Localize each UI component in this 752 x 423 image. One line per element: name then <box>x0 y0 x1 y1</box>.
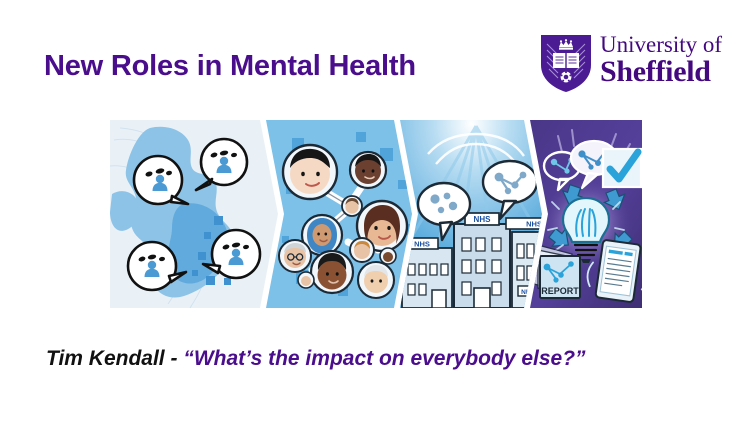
slide-header: New Roles in Mental Health <box>0 0 752 112</box>
network-face <box>350 152 386 188</box>
slide-caption: Tim Kendall - “What’s the impact on ever… <box>46 347 586 371</box>
banner-panel-people-network <box>260 120 420 308</box>
svg-text:NHS: NHS <box>414 240 430 249</box>
university-wordmark: University of Sheffield <box>600 33 722 87</box>
logo-line-sheffield: Sheffield <box>600 57 722 87</box>
network-face <box>279 240 311 272</box>
network-face <box>342 196 362 216</box>
network-face <box>311 251 353 293</box>
caption-speaker: Tim Kendall - <box>46 347 183 370</box>
svg-text:NHS: NHS <box>474 215 492 224</box>
university-logo: University of Sheffield <box>536 30 732 94</box>
svg-text:NHS: NHS <box>526 220 542 229</box>
network-face <box>350 238 374 262</box>
network-face <box>283 145 337 199</box>
university-crest-icon <box>538 32 594 94</box>
banner-panel-uk-map <box>110 120 280 308</box>
report-label: REPORT <box>541 286 579 296</box>
caption-quote: “What’s the impact on everybody else?” <box>183 347 585 370</box>
logo-line-university: University of <box>600 33 722 56</box>
network-face <box>358 262 394 298</box>
banner-illustration: NHS NHS <box>110 120 642 308</box>
checkbox-tick-icon <box>603 149 641 187</box>
page-title: New Roles in Mental Health <box>44 50 416 83</box>
